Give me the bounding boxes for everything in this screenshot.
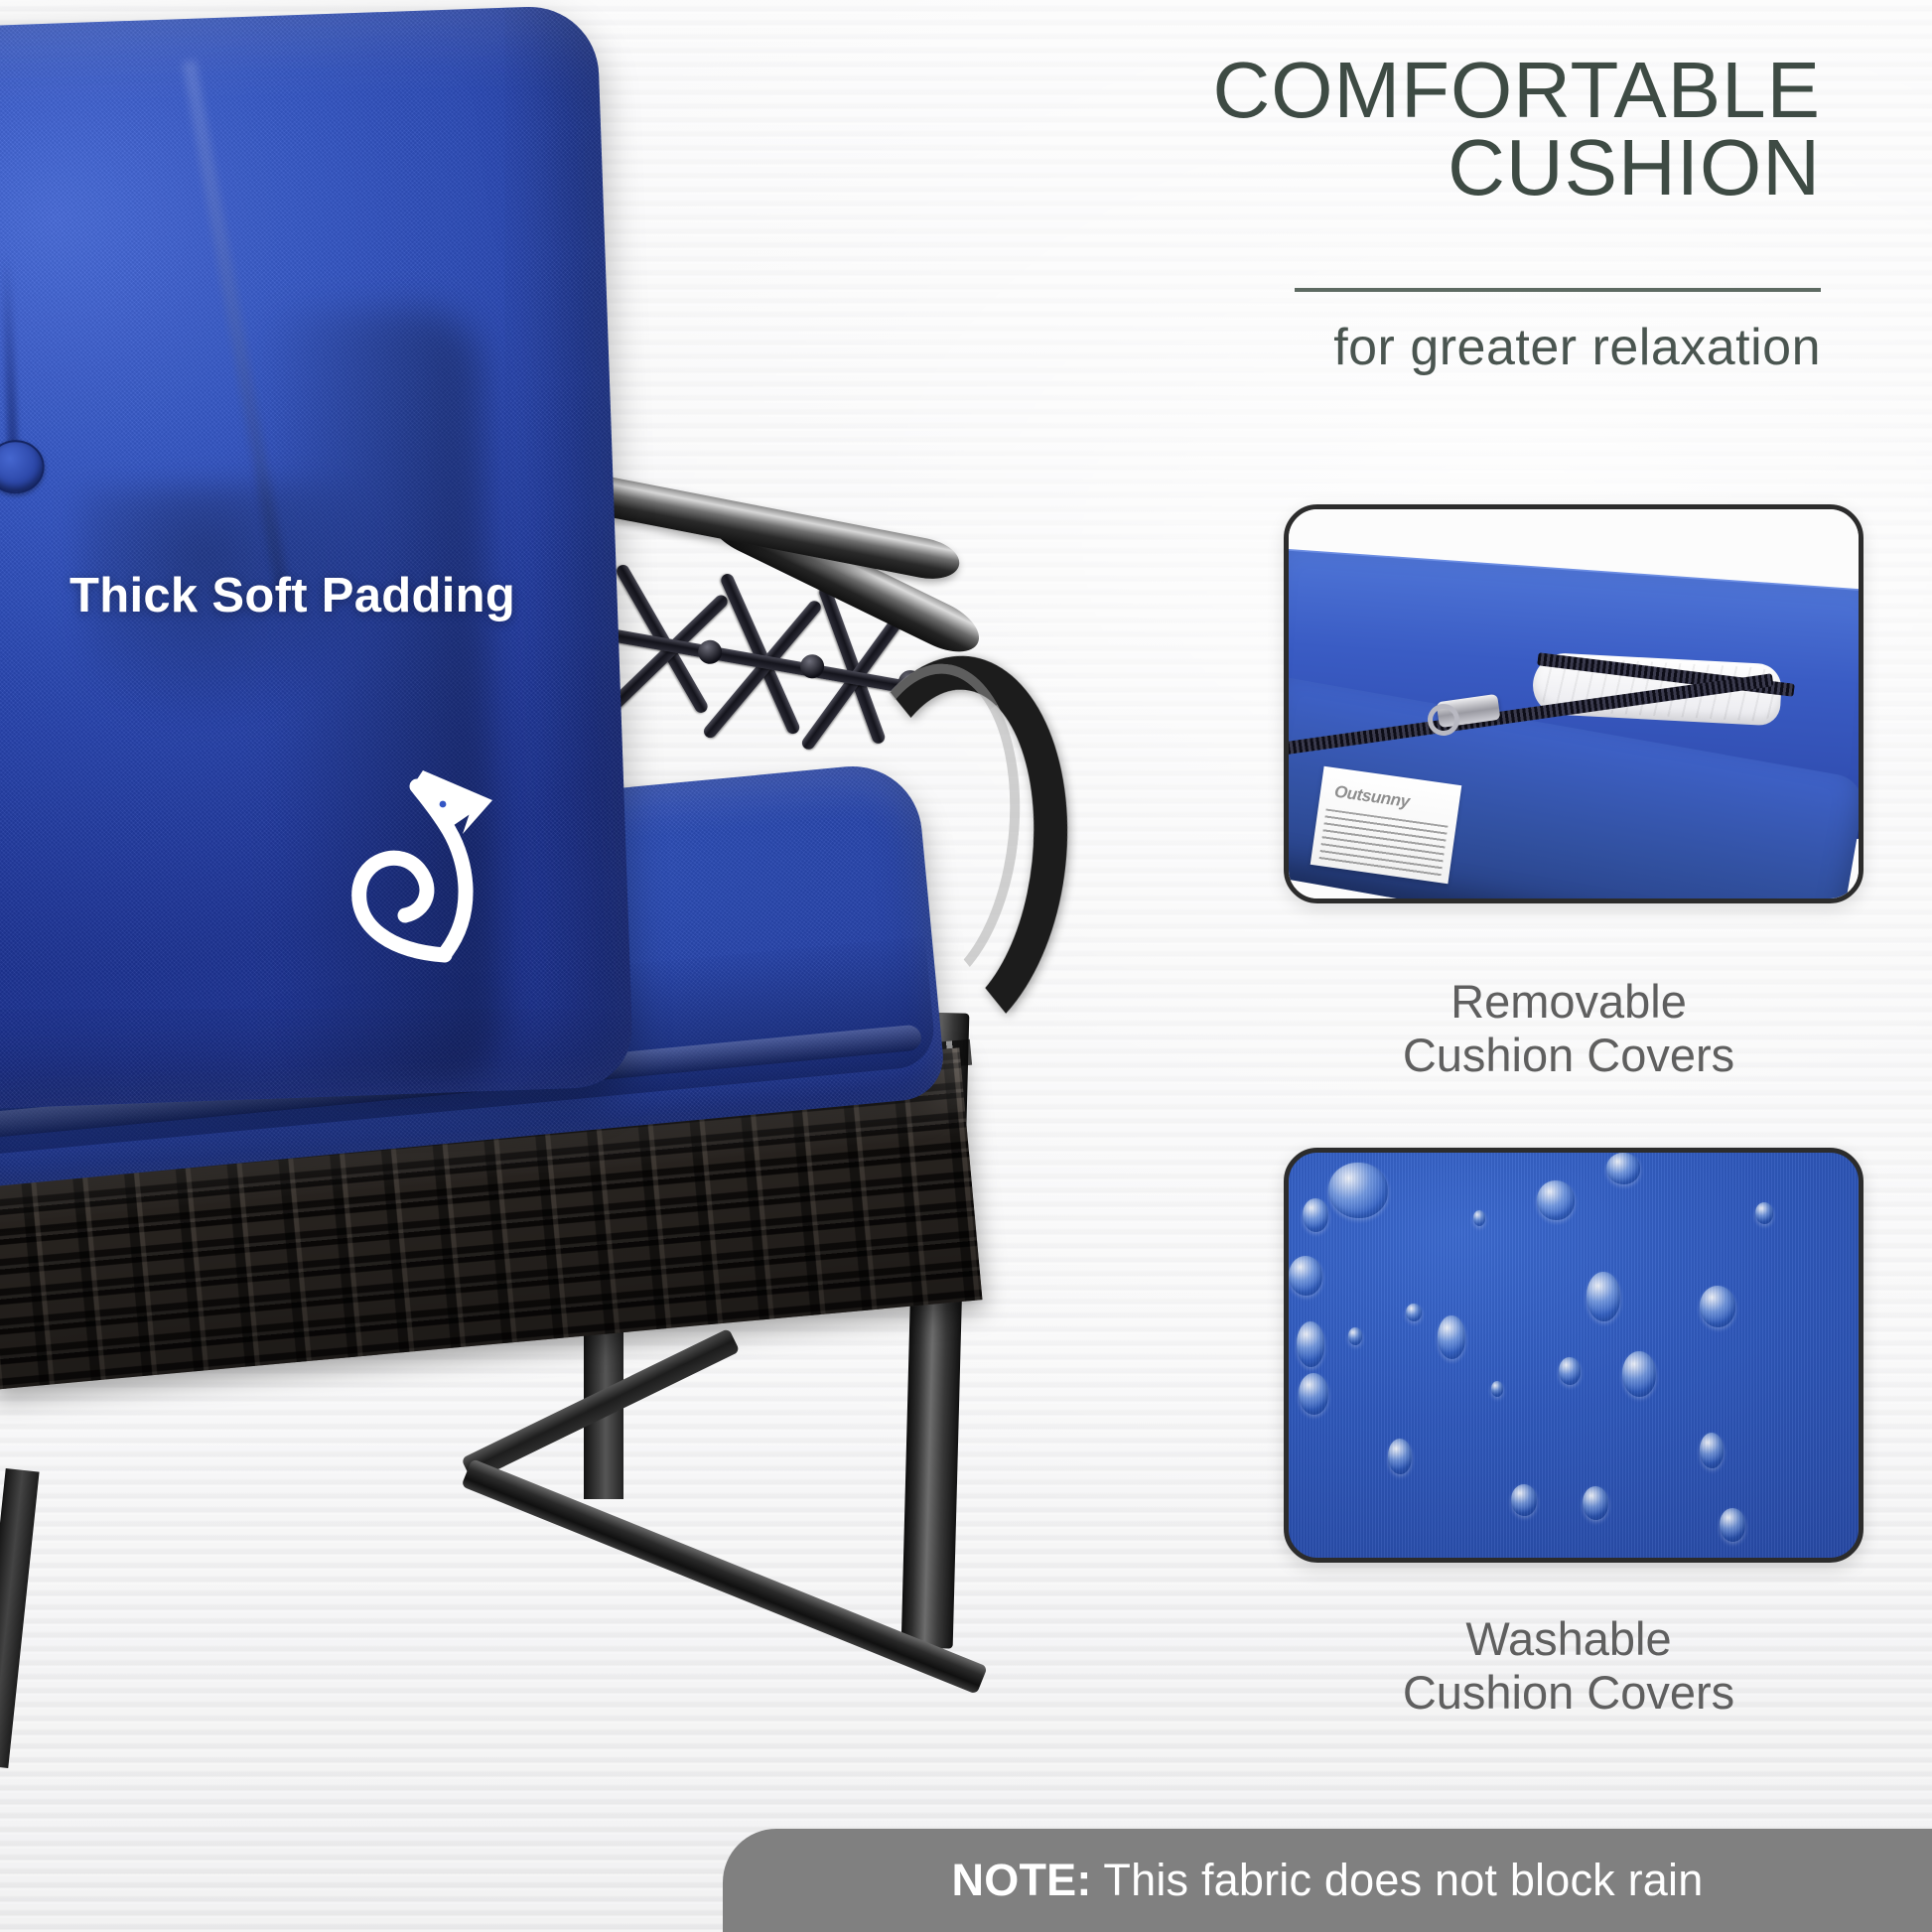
feature-caption-removable: Removable Cushion Covers (1122, 975, 1932, 1082)
caption-washable-line1: Washable (1122, 1612, 1932, 1666)
headline-line-2: CUSHION (927, 129, 1821, 207)
headline-line-1: COMFORTABLE (927, 52, 1821, 129)
caption-removable-line1: Removable (1122, 975, 1932, 1029)
note-body: This fabric does not block rain (1092, 1855, 1704, 1905)
headline-divider (1295, 288, 1821, 292)
care-label-fineprint (1318, 808, 1448, 879)
note-bar: NOTE: This fabric does not block rain (723, 1829, 1932, 1932)
chair-leg-back (0, 1468, 40, 1768)
headline-subtitle: for greater relaxation (927, 318, 1821, 377)
product-feature-image: Thick Soft Padding COMFORTABLE CUSHION f… (0, 0, 1932, 1932)
note-text: NOTE: This fabric does not block rain (952, 1855, 1704, 1906)
rocking-chair-photo (0, 0, 1052, 1932)
care-label-tag: Outsunny (1311, 766, 1462, 885)
feature-panel-washable (1284, 1148, 1863, 1563)
feature-panel-removable: Outsunny (1284, 504, 1863, 903)
thick-soft-padding-label: Thick Soft Padding (69, 568, 515, 623)
page-title: COMFORTABLE CUSHION (927, 52, 1821, 207)
brand-label-text: Outsunny (1333, 782, 1411, 812)
removable-cover-photo: Outsunny (1289, 509, 1859, 898)
note-prefix: NOTE: (952, 1855, 1092, 1905)
curved-up-arrow-icon (298, 635, 576, 963)
tufting-button (0, 439, 46, 494)
caption-removable-line2: Cushion Covers (1122, 1029, 1932, 1082)
tuft-crease (1, 253, 18, 447)
feature-caption-washable: Washable Cushion Covers (1122, 1612, 1932, 1720)
caption-washable-line2: Cushion Covers (1122, 1666, 1932, 1720)
